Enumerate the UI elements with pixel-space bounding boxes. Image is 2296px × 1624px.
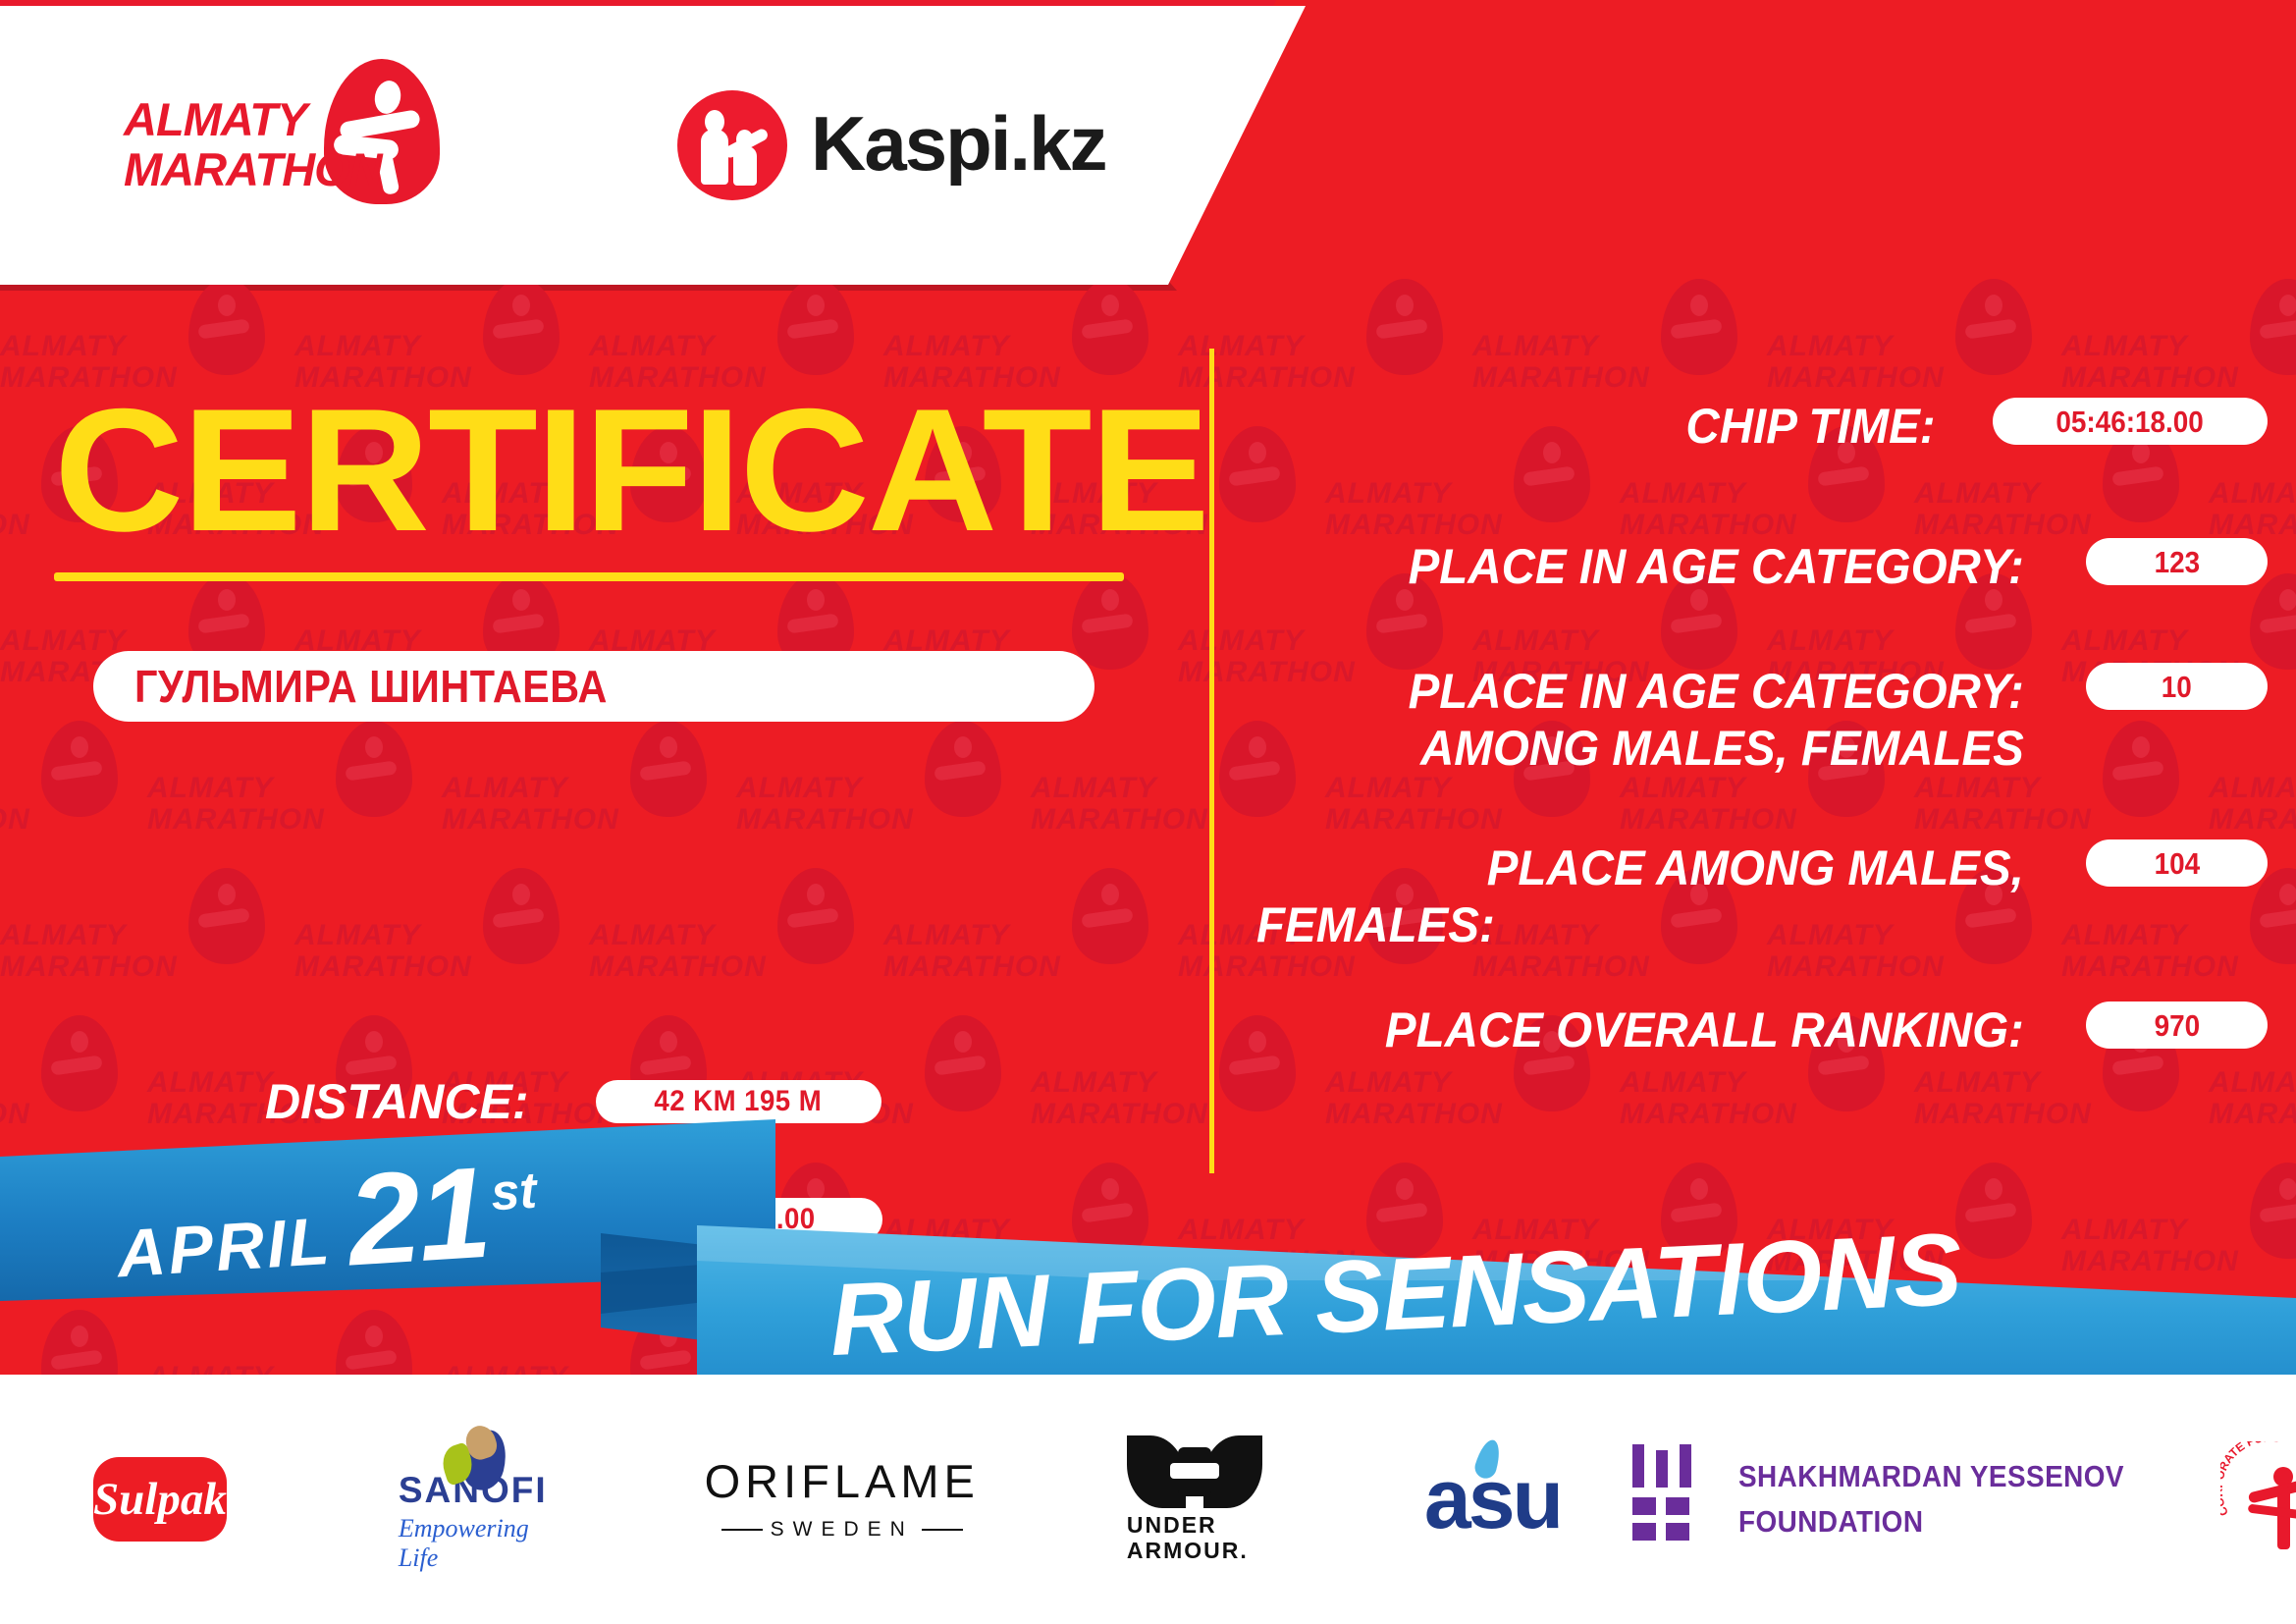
almaty-marathon-line2: MARATHON xyxy=(124,144,382,194)
oriflame-country: SWEDEN xyxy=(771,1518,914,1542)
participant-name-value: ГУЛЬМИРА ШИНТАЕВА xyxy=(134,663,608,710)
yessenov-foundation-icon xyxy=(1632,1444,1717,1554)
oriflame-rule-left xyxy=(721,1529,763,1531)
place-among-label: PLACE AMONG MALES, xyxy=(1256,839,2024,896)
sponsor-yessenov-foundation: SHAKHMARDAN YESSENOV FOUNDATION xyxy=(1693,1431,2106,1568)
place-age-category-among-value-pill: 10 xyxy=(2086,663,2268,710)
place-among-value-pill: 104 xyxy=(2086,839,2268,887)
sponsor-asu: asu xyxy=(1424,1435,1561,1563)
yessenov-foundation-wordmark: SHAKHMARDAN YESSENOV FOUNDATION xyxy=(1738,1454,2167,1544)
title-underline xyxy=(54,572,1124,581)
result-row-place-among-males-females: PLACE AMONG MALES, FEMALES: 104 xyxy=(1256,839,2268,953)
almaty-marathon-line1: ALMATY xyxy=(124,94,382,144)
result-row-place-overall: PLACE OVERALL RANKING: 970 xyxy=(1256,1001,2268,1058)
under-armour-icon xyxy=(1127,1435,1262,1504)
yessenov-line1: SHAKHMARDAN YESSENOV xyxy=(1738,1454,2124,1499)
event-day-suffix: st xyxy=(489,1162,538,1223)
sponsor-oriflame: ORIFLAME SWEDEN xyxy=(705,1440,980,1558)
place-among-value: 104 xyxy=(2154,847,2200,880)
oriflame-sub: SWEDEN xyxy=(705,1518,980,1542)
sponsor-sanofi: SANOFI Empowering Life xyxy=(399,1426,548,1573)
kaspi-people-icon xyxy=(677,90,787,200)
almaty-marathon-wordmark: ALMATY MARATHON xyxy=(124,94,382,194)
result-row-place-age-category-among: PLACE IN AGE CATEGORY: AMONG MALES, FEMA… xyxy=(1256,663,2268,777)
sponsor-under-armour: UNDER ARMOUR. xyxy=(1127,1435,1262,1563)
place-age-category-value-pill: 123 xyxy=(2086,538,2268,585)
kaspi-wordmark: Kaspi.kz xyxy=(811,102,1105,185)
event-date: APRIL 21 st xyxy=(112,1148,541,1298)
place-age-category-among-label: PLACE IN AGE CATEGORY: xyxy=(1256,663,2024,720)
result-row-chip-time: CHIP TIME: 05:46:18.00 xyxy=(1256,398,2268,455)
place-age-category-value: 123 xyxy=(2154,546,2200,578)
place-overall-label: PLACE OVERALL RANKING: xyxy=(1256,1001,2024,1058)
event-month: APRIL xyxy=(115,1206,334,1290)
kaspi-logo: Kaspi.kz xyxy=(677,77,1188,204)
courage-fund-icon: CORPORATE FUND ★ xyxy=(2218,1435,2296,1563)
chip-time-label: CHIP TIME: xyxy=(1256,398,1936,455)
yessenov-line2: FOUNDATION xyxy=(1738,1499,2124,1544)
event-day: 21 xyxy=(345,1151,492,1283)
place-overall-value-pill: 970 xyxy=(2086,1001,2268,1049)
certificate-page: ALMATYMARATHONALMATYMARATHONALMATYMARATH… xyxy=(0,0,2296,1624)
place-age-category-among-label2: AMONG MALES, FEMALES xyxy=(1256,720,2024,777)
sulpak-wordmark: Sulpak xyxy=(93,1475,227,1524)
sponsor-courage-fund: CORPORATE FUND ★ COURAGE TO BE THE FIRST… xyxy=(2218,1426,2296,1573)
place-among-label2: FEMALES: xyxy=(1256,896,2024,953)
under-armour-wordmark: UNDER ARMOUR. xyxy=(1127,1512,1262,1563)
oriflame-rule-right xyxy=(922,1529,963,1531)
page-title: CERTIFICATE xyxy=(54,383,1208,558)
result-row-place-age-category: PLACE IN AGE CATEGORY: 123 xyxy=(1256,538,2268,595)
participant-name-field: ГУЛЬМИРА ШИНТАЕВА xyxy=(93,651,1095,722)
column-divider xyxy=(1209,349,1214,1173)
chip-time-value-pill: 05:46:18.00 xyxy=(1993,398,2268,445)
sponsor-footer: Sulpak SANOFI Empowering Life ORIFLAME S… xyxy=(0,1375,2296,1624)
sponsor-sulpak: Sulpak xyxy=(93,1457,227,1542)
sanofi-tagline: Empowering Life xyxy=(399,1514,548,1573)
almaty-marathon-logo: ALMATY MARATHON xyxy=(118,59,530,216)
chip-time-value: 05:46:18.00 xyxy=(2056,406,2204,438)
oriflame-wordmark: ORIFLAME xyxy=(705,1457,980,1506)
event-ribbon: APRIL 21 st RUN FOR SENSATIONS xyxy=(0,1110,2296,1414)
place-age-category-label: PLACE IN AGE CATEGORY: xyxy=(1256,538,2024,595)
sanofi-icon xyxy=(437,1426,509,1467)
place-age-category-among-value: 10 xyxy=(2162,671,2192,703)
place-overall-value: 970 xyxy=(2154,1009,2200,1042)
